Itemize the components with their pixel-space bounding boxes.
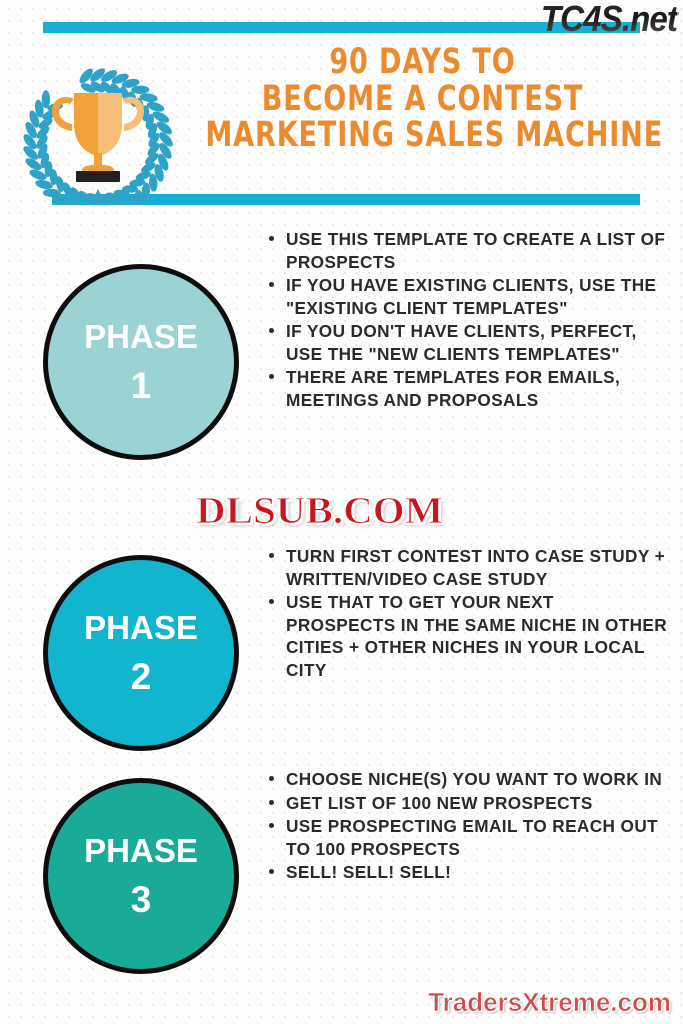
phase-number-3: 3: [131, 881, 152, 918]
list-item: SELL! SELL! SELL!: [268, 861, 668, 884]
watermark-tradersxtreme: TradersXtreme.com: [428, 987, 671, 1018]
phase-bullet-list-2: TURN FIRST CONTEST INTO CASE STUDY + WRI…: [268, 545, 668, 682]
list-item: TURN FIRST CONTEST INTO CASE STUDY + WRI…: [268, 545, 668, 590]
phase-label-3: PHASE: [84, 834, 198, 867]
phase-bullet-list-1: USE THIS TEMPLATE TO CREATE A LIST OF PR…: [268, 228, 668, 412]
title-line-2: BECOME A CONTEST: [205, 83, 639, 117]
list-item: USE PROSPECTING EMAIL TO REACH OUT TO 10…: [268, 815, 668, 860]
page-title: 90 DAYS TO BECOME A CONTEST MARKETING SA…: [170, 46, 675, 153]
list-item: USE THAT TO GET YOUR NEXT PROSPECTS IN T…: [268, 591, 668, 681]
phase-number-1: 1: [131, 367, 152, 404]
title-line-3: MARKETING SALES MACHINE: [205, 119, 639, 153]
phase-label-2: PHASE: [84, 611, 198, 644]
watermark-dlsub: DLSUB.COM: [196, 489, 443, 533]
phase-number-2: 2: [131, 658, 152, 695]
trophy-laurel-emblem: [14, 45, 182, 205]
title-line-1: 90 DAYS TO: [205, 46, 639, 80]
phase-circle-1[interactable]: PHASE 1: [43, 264, 239, 460]
phase-label-1: PHASE: [84, 320, 198, 353]
list-item: THERE ARE TEMPLATES FOR EMAILS, MEETINGS…: [268, 366, 668, 411]
phase-bullet-list-3: CHOOSE NICHE(S) YOU WANT TO WORK IN GET …: [268, 768, 668, 885]
list-item: CHOOSE NICHE(S) YOU WANT TO WORK IN: [268, 768, 668, 791]
list-item: GET LIST OF 100 NEW PROSPECTS: [268, 792, 668, 815]
list-item: IF YOU HAVE EXISTING CLIENTS, USE THE "E…: [268, 274, 668, 319]
watermark-tc4s: TC4S.net: [541, 0, 677, 40]
phase-circle-3[interactable]: PHASE 3: [43, 778, 239, 974]
list-item: USE THIS TEMPLATE TO CREATE A LIST OF PR…: [268, 228, 668, 273]
infographic-poster: TC4S.net 90 DAYS TO BECOME A CONTEST MAR…: [0, 0, 683, 1024]
list-item: IF YOU DON'T HAVE CLIENTS, PERFECT, USE …: [268, 320, 668, 365]
phase-circle-2[interactable]: PHASE 2: [43, 555, 239, 751]
trophy-icon: [52, 93, 144, 182]
